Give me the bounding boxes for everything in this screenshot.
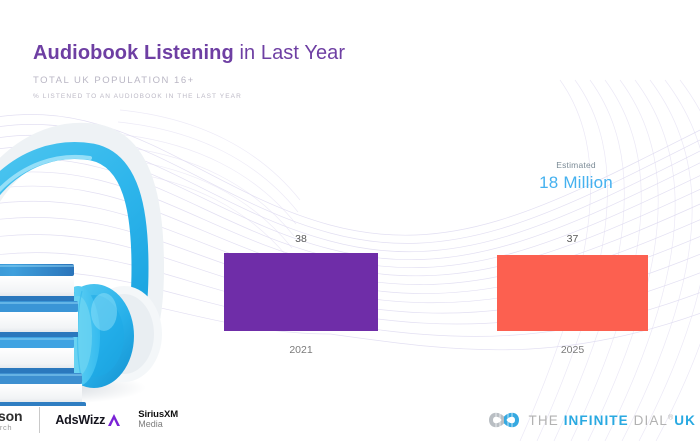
edison-logo-name: dison — [0, 409, 22, 423]
footer-sponsor-logos: dison search AdsWizz SiriusXM Media — [0, 407, 178, 433]
edison-logo-sub: search — [0, 424, 22, 432]
wordmark-uk: UK — [674, 413, 696, 428]
bar-chart: 38 2021 37 2025 — [0, 0, 700, 441]
bar-2021[interactable] — [224, 253, 378, 331]
infinite-dial-branding: THE INFINITE DIAL®UK — [487, 410, 696, 430]
bar-label-2025: 2025 — [497, 344, 648, 356]
siriusxm-media-logo: SiriusXM Media — [138, 410, 178, 429]
bar-label-2021: 2021 — [224, 344, 378, 356]
bar-2025[interactable] — [497, 255, 648, 331]
slide-footer: dison search AdsWizz SiriusXM Media — [0, 395, 700, 441]
siriusxm-logo-sub: Media — [138, 420, 178, 429]
wordmark-dial: DIAL — [629, 413, 668, 428]
wordmark-the: THE — [529, 413, 564, 428]
adswizz-logo: AdsWizz — [55, 413, 121, 427]
bar-group-2025: 37 2025 — [497, 253, 648, 331]
infinite-dial-wordmark: THE INFINITE DIAL®UK — [529, 413, 696, 428]
adswizz-chevron-icon — [107, 413, 121, 427]
slide-root: Audiobook Listening in Last Year TOTAL U… — [0, 0, 700, 441]
wordmark-infinite: INFINITE — [564, 413, 629, 428]
bar-group-2021: 38 2021 — [224, 253, 378, 331]
adswizz-logo-name: AdsWizz — [55, 413, 105, 427]
infinity-icon — [487, 410, 521, 430]
bar-value-2021: 38 — [224, 233, 378, 245]
footer-divider — [39, 407, 40, 433]
edison-research-logo: dison search — [0, 409, 22, 432]
bar-value-2025: 37 — [497, 233, 648, 245]
